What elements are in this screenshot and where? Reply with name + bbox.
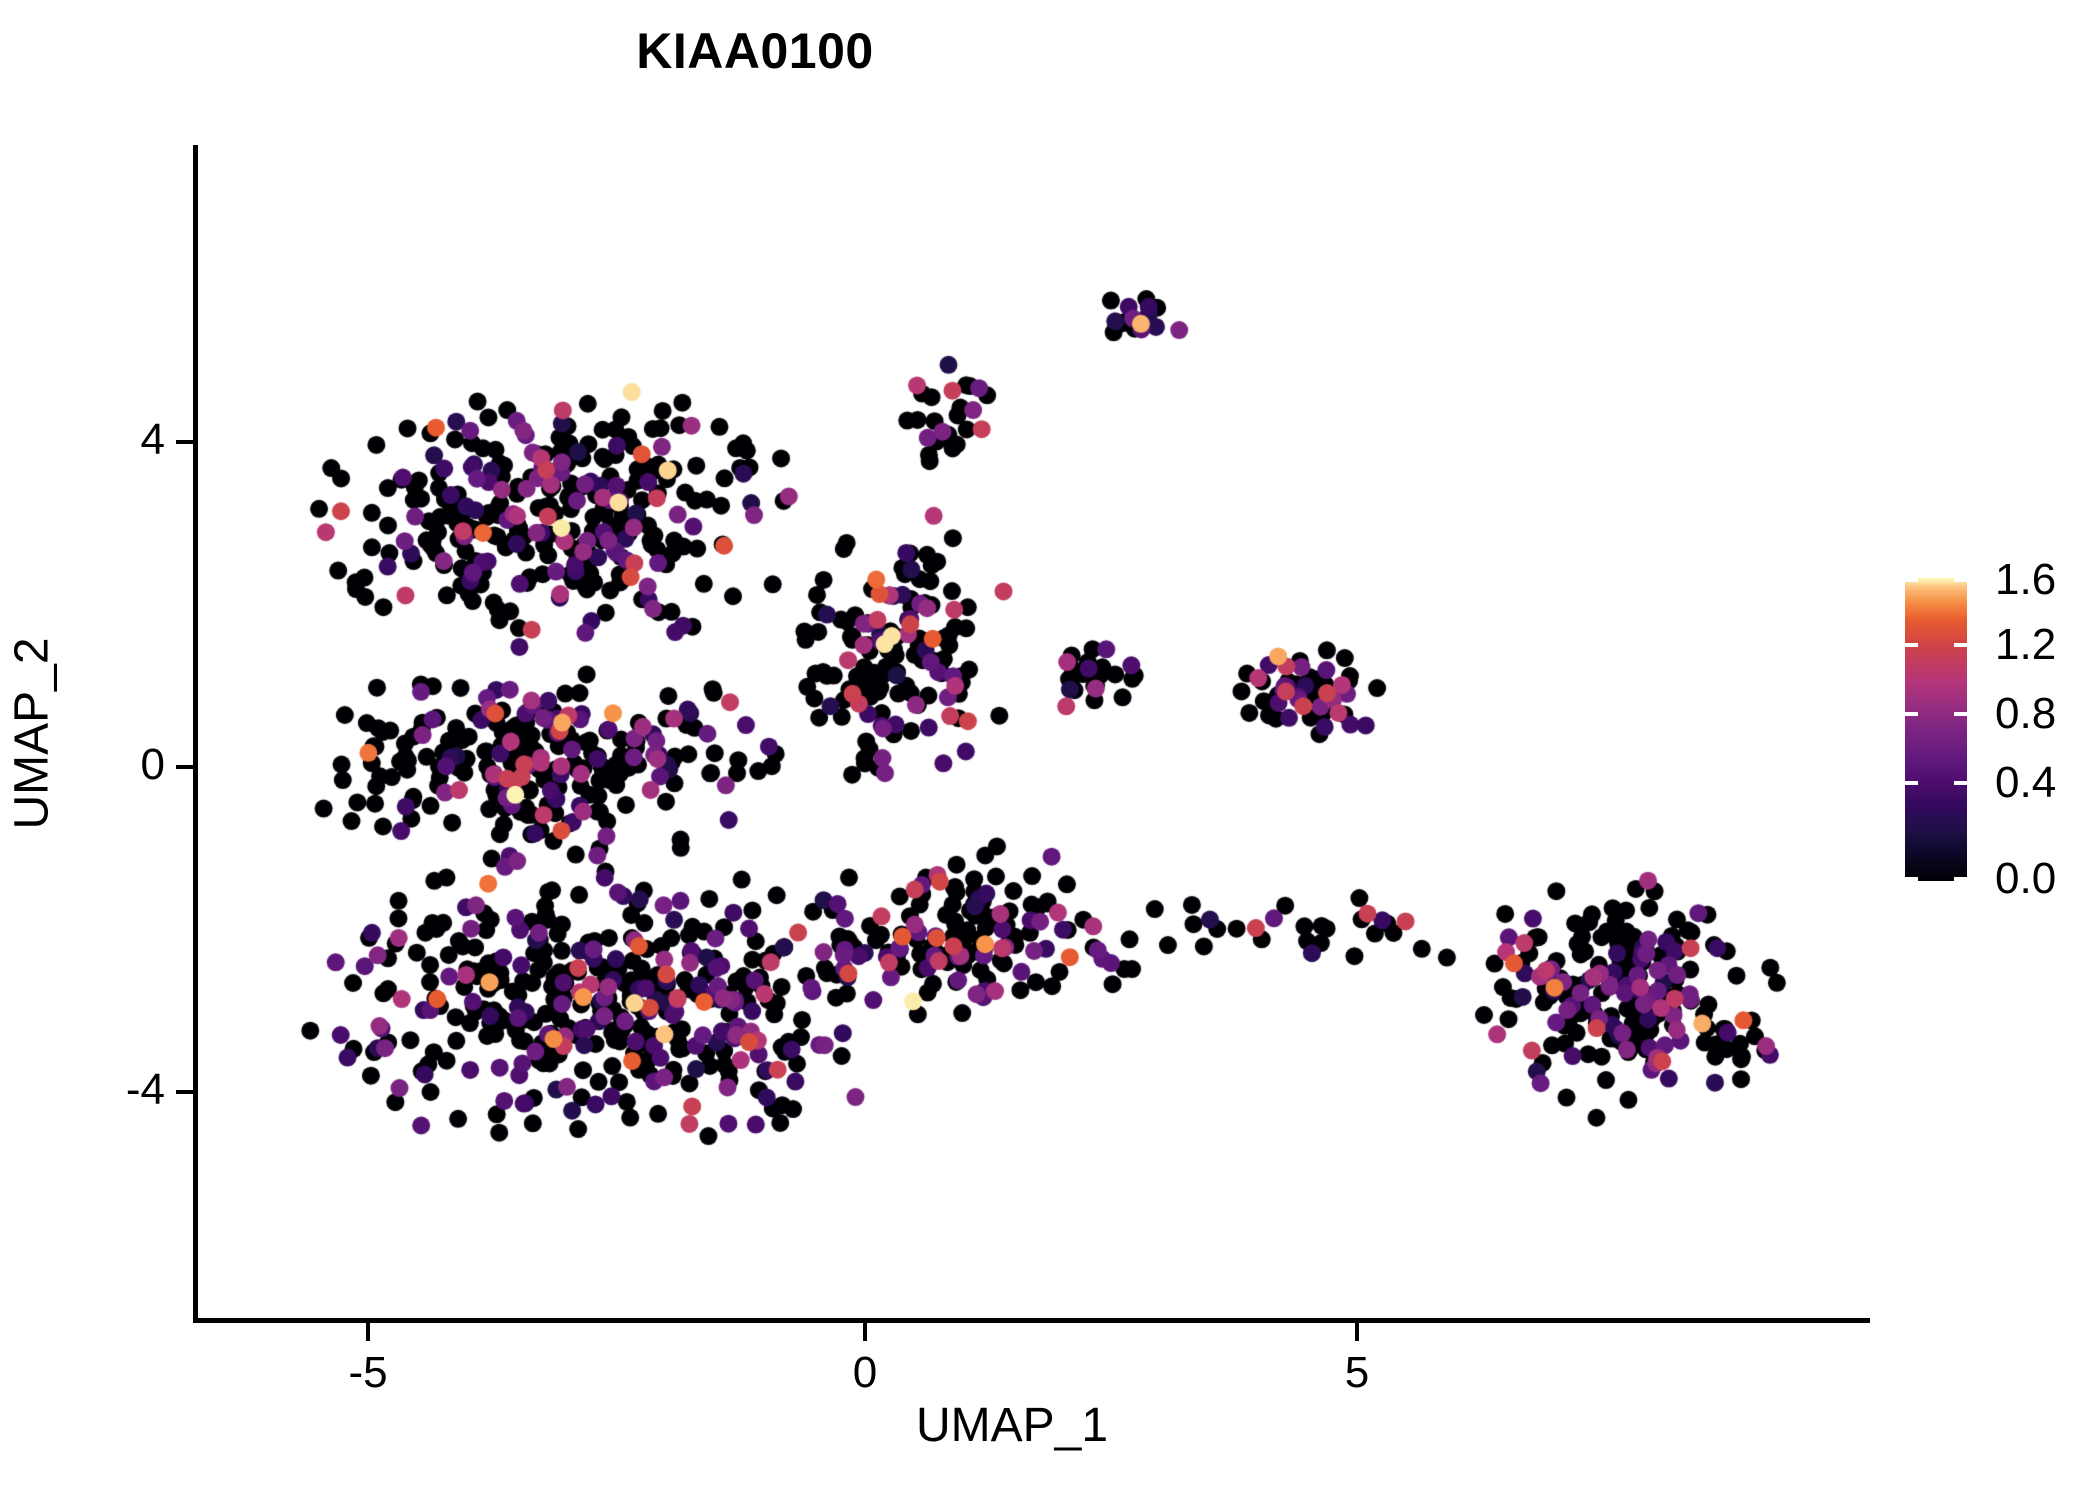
x-tick-label: -5 [348, 1348, 387, 1398]
colorbar-label: 1.6 [1995, 555, 2056, 605]
colorbar-label: 0.4 [1995, 758, 2056, 808]
x-tick-label: 0 [853, 1348, 877, 1398]
colorbar-label: 0.8 [1995, 689, 2056, 739]
y-tick-label: 0 [141, 740, 165, 790]
y-tick-mark [176, 765, 194, 769]
x-axis-line [193, 1318, 1870, 1323]
colorbar-label: 1.2 [1995, 620, 2056, 670]
plot-panel [195, 145, 1870, 1320]
colorbar-gradient [1905, 578, 1967, 881]
colorbar-tick [1954, 877, 1967, 881]
y-axis-line [193, 145, 198, 1322]
colorbar-label: 0.0 [1995, 854, 2056, 904]
colorbar-tick [1954, 578, 1967, 582]
x-tick-mark [366, 1323, 370, 1341]
colorbar-tick [1954, 643, 1967, 647]
umap-feature-plot: KIAA0100 4 0 -4 -5 0 5 UMAP_1 UMAP_2 1.6… [0, 0, 2100, 1500]
y-tick-label: -4 [126, 1065, 165, 1115]
colorbar-tick [1954, 712, 1967, 716]
y-tick-label: 4 [141, 415, 165, 465]
x-tick-mark [863, 1323, 867, 1341]
x-axis-title: UMAP_1 [0, 1398, 2024, 1453]
y-tick-mark [176, 440, 194, 444]
colorbar-tick [1905, 578, 1918, 582]
y-tick-mark [176, 1090, 194, 1094]
y-axis-title: UMAP_2 [5, 414, 60, 1054]
scatter-plot-canvas [195, 145, 1870, 1320]
x-tick-mark [1355, 1323, 1359, 1341]
page-title: KIAA0100 [0, 22, 1510, 80]
x-tick-label: 5 [1345, 1348, 1369, 1398]
colorbar-tick [1905, 781, 1918, 785]
colorbar-tick [1954, 781, 1967, 785]
colorbar-tick [1905, 877, 1918, 881]
colorbar-tick [1905, 643, 1918, 647]
colorbar-tick [1905, 712, 1918, 716]
